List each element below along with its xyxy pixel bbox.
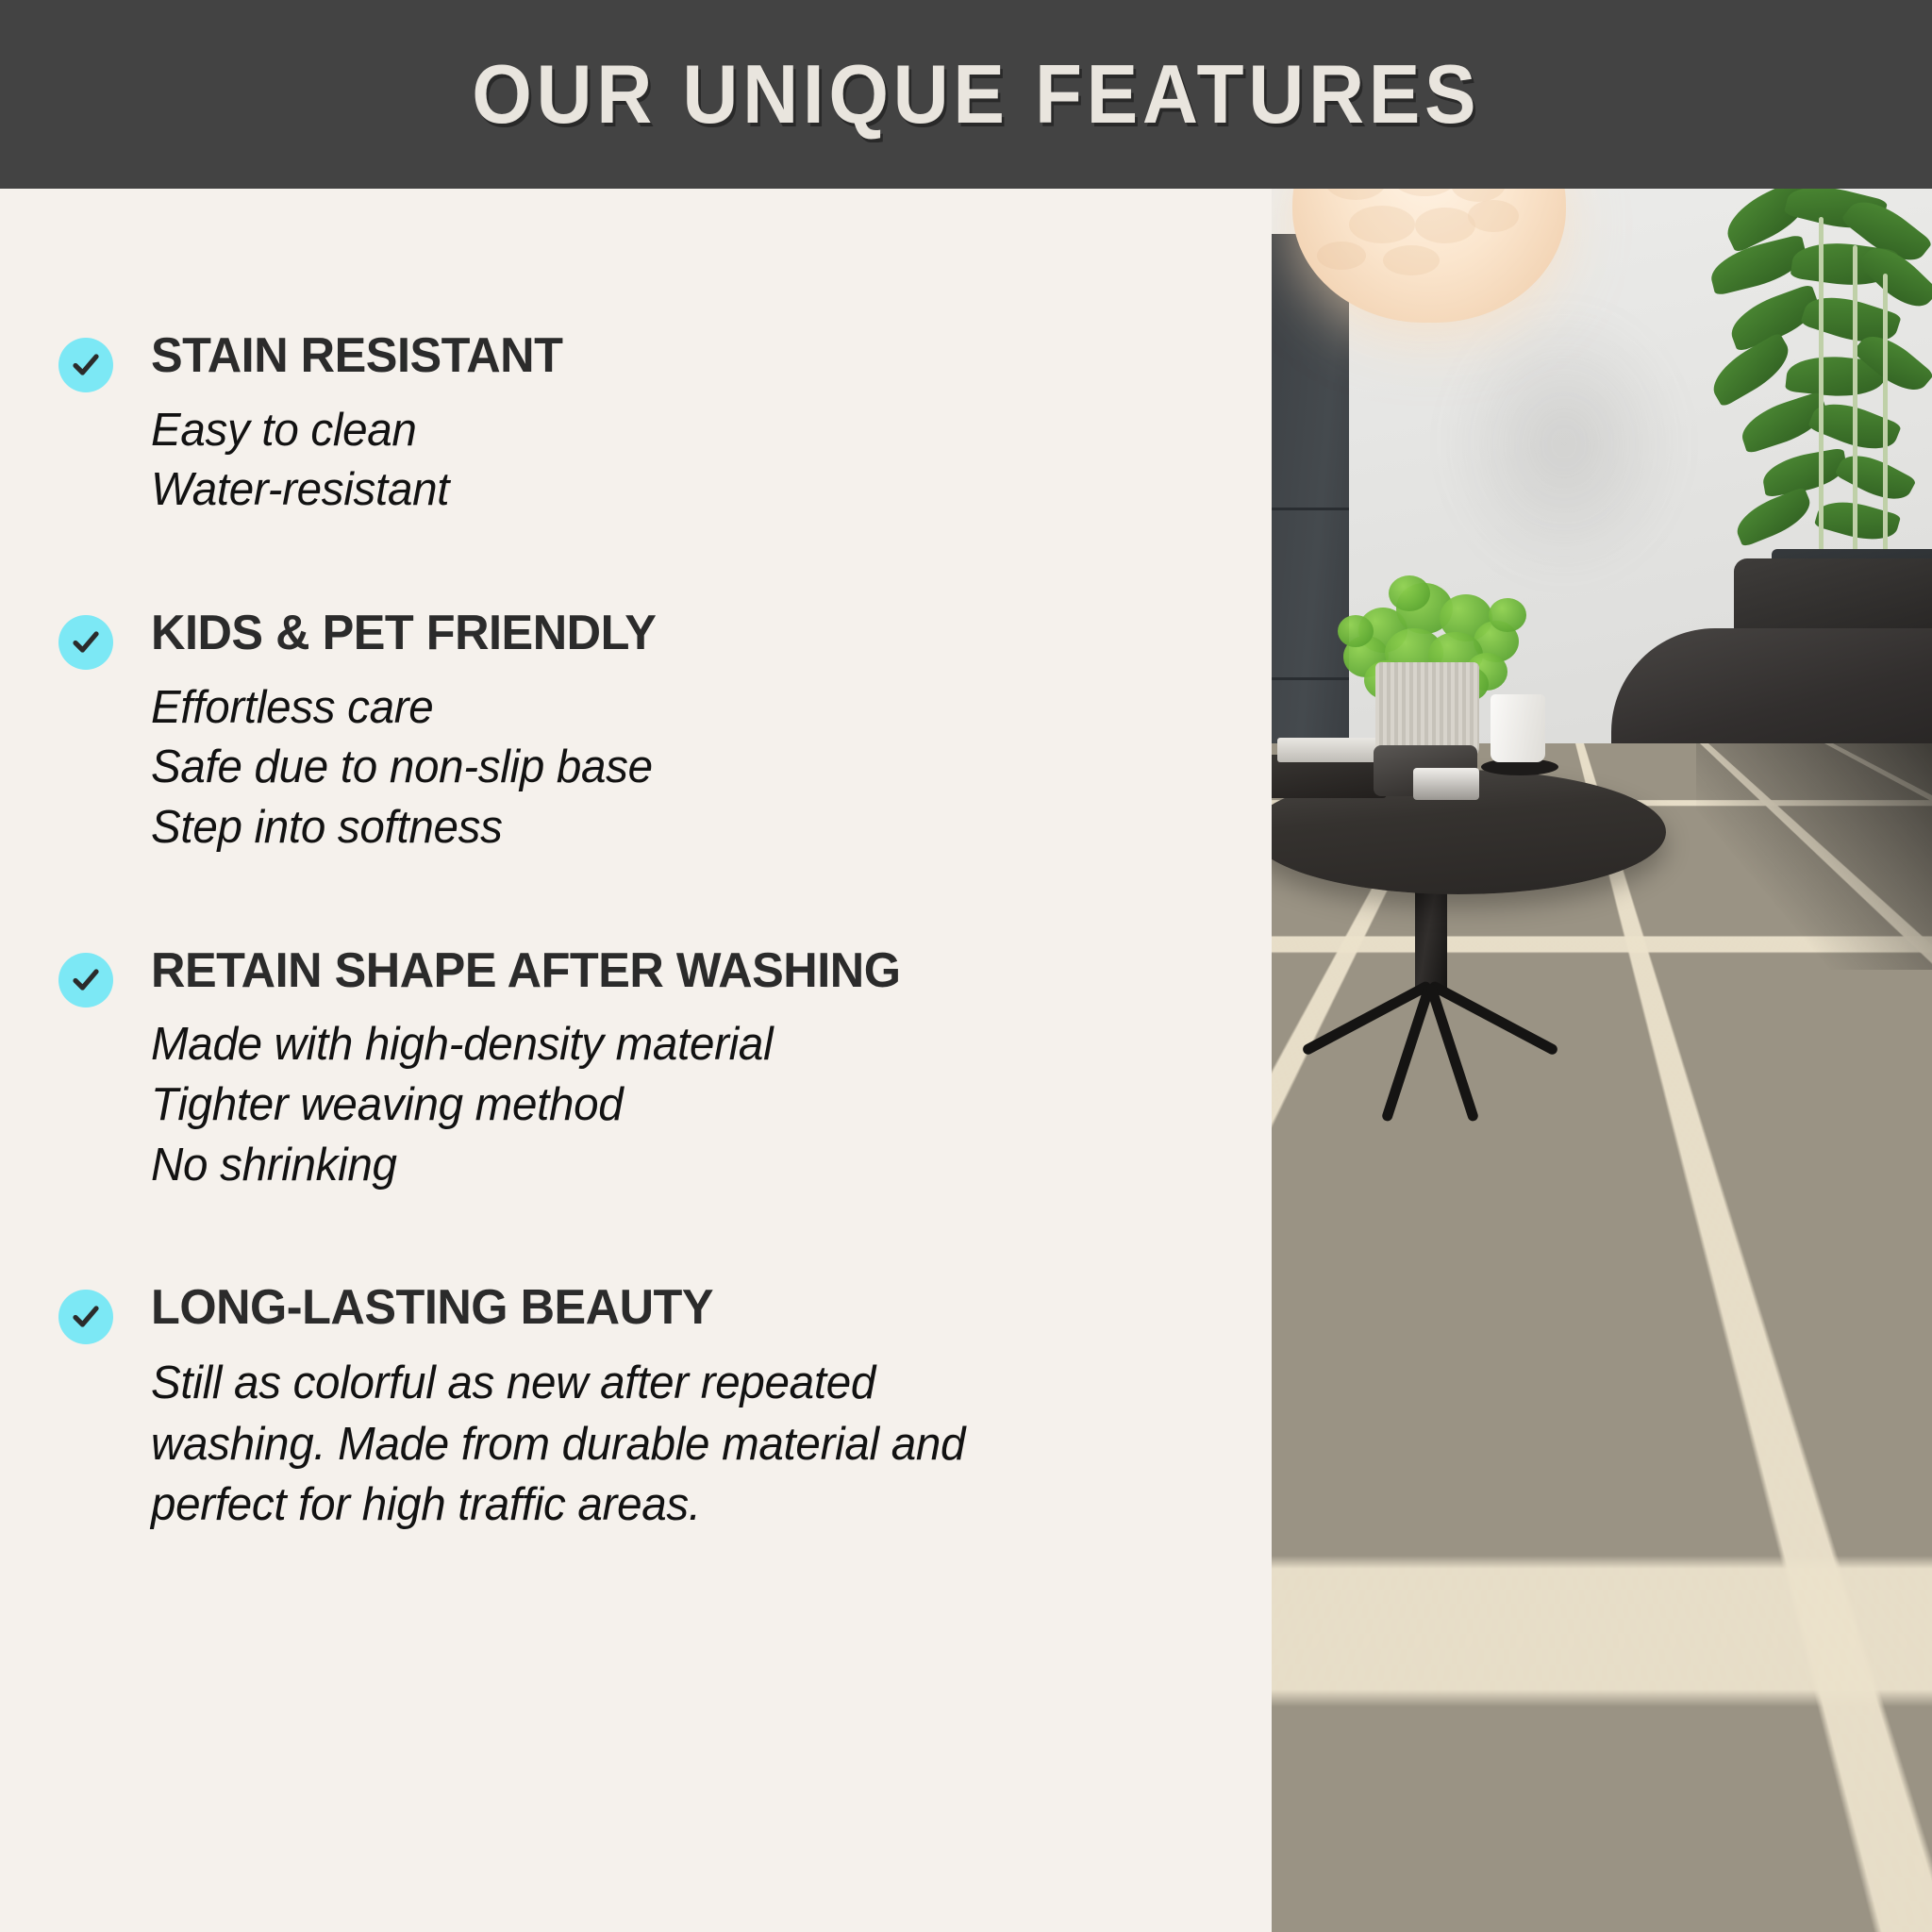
feature-title: STAIN RESISTANT xyxy=(151,330,1238,382)
plant-leaf xyxy=(1834,444,1917,509)
feature-line: Tighter weaving method xyxy=(151,1075,1238,1136)
page-title: OUR UNIQUE FEATURES xyxy=(473,53,1481,136)
feature-item: STAIN RESISTANTEasy to cleanWater-resist… xyxy=(0,330,1272,521)
plant-stem xyxy=(1853,245,1857,557)
feature-line: Safe due to non-slip base xyxy=(151,738,1238,798)
floor-right-shadow xyxy=(1696,743,1932,970)
check-icon xyxy=(58,1290,113,1344)
table-object xyxy=(1413,768,1479,800)
feature-line: Made with high-density material xyxy=(151,1015,1238,1075)
feature-title: RETAIN SHAPE AFTER WASHING xyxy=(151,945,1238,997)
feature-title: KIDS & PET FRIENDLY xyxy=(151,608,1238,659)
potted-plant xyxy=(1706,189,1932,585)
room-photo xyxy=(1272,189,1932,1932)
check-icon xyxy=(58,338,113,392)
feature-item: RETAIN SHAPE AFTER WASHINGMade with high… xyxy=(0,945,1272,1196)
checkered-tile-rug xyxy=(1272,743,1932,1932)
feature-paragraph: Still as colorful as new after repeated … xyxy=(151,1353,979,1536)
features-panel: STAIN RESISTANTEasy to cleanWater-resist… xyxy=(0,189,1272,1932)
feature-line: Easy to clean xyxy=(151,401,1238,461)
check-icon xyxy=(58,615,113,670)
feature-list: STAIN RESISTANTEasy to cleanWater-resist… xyxy=(0,189,1272,1536)
white-cup xyxy=(1491,694,1545,762)
feature-line: Effortless care xyxy=(151,678,1238,739)
plant-stem xyxy=(1819,217,1824,557)
plant-stem xyxy=(1883,274,1888,557)
check-icon xyxy=(58,953,113,1008)
feature-title: LONG-LASTING BEAUTY xyxy=(151,1282,1238,1334)
plant-leaf xyxy=(1814,493,1902,548)
feature-infographic: OUR UNIQUE FEATURES STAIN RESISTANTEasy … xyxy=(0,0,1932,1932)
feature-line: Step into softness xyxy=(151,798,1238,858)
stacked-books xyxy=(1277,738,1389,762)
feature-item: KIDS & PET FRIENDLYEffortless careSafe d… xyxy=(0,608,1272,858)
header-bar: OUR UNIQUE FEATURES xyxy=(0,0,1932,189)
feature-line: Water-resistant xyxy=(151,460,1238,521)
wall-shadow xyxy=(1441,302,1687,585)
cabinet-seam xyxy=(1272,508,1349,510)
room-photo-scene xyxy=(1272,189,1932,1932)
feature-line: No shrinking xyxy=(151,1136,1238,1196)
feature-item: LONG-LASTING BEAUTYStill as colorful as … xyxy=(0,1282,1272,1536)
